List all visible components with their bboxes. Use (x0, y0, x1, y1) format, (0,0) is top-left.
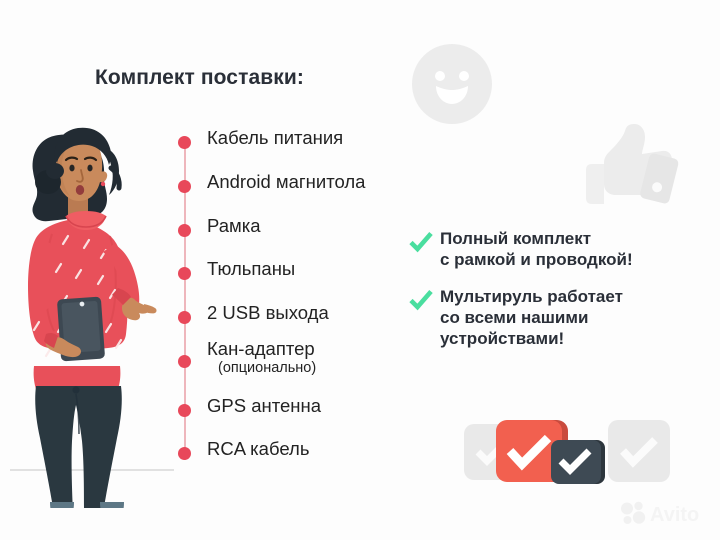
list-item-label: Android магнитола (207, 172, 365, 192)
benefit-item: Мультируль работает со всеми нашими устр… (408, 286, 698, 349)
bullet-icon (178, 355, 191, 368)
benefit-label: Мультируль работает со всеми нашими устр… (440, 286, 623, 349)
avito-logo-icon: Avito (620, 500, 712, 526)
benefit-label: Полный комплект с рамкой и проводкой! (440, 228, 633, 270)
bullet-icon (178, 311, 191, 324)
avito-wordmark: Avito (650, 504, 699, 526)
check-icon (408, 287, 434, 313)
check-icon (408, 229, 434, 255)
page-title: Комплект поставки: (95, 66, 304, 90)
list-item-label: 2 USB выхода (207, 303, 329, 323)
list-item-label: Рамка (207, 216, 261, 236)
bullet-icon (178, 224, 191, 237)
bullet-icon (178, 447, 191, 460)
thumbs-up-icon (580, 116, 686, 222)
bullet-icon (178, 404, 191, 417)
bullet-icon (178, 267, 191, 280)
list-item-label: RCA кабель (207, 439, 309, 459)
bullet-icon (178, 180, 191, 193)
bullet-icon (178, 136, 191, 149)
list-item-label: Кабель питания (207, 128, 343, 148)
smiley-face-icon (404, 36, 500, 132)
benefits-list: Полный комплект с рамкой и проводкой! Му… (408, 228, 698, 350)
list-item-label: GPS антенна (207, 396, 321, 416)
list-item-label-main: Кан-адаптер (207, 338, 315, 359)
person-illustration (6, 108, 178, 508)
benefit-item: Полный комплект с рамкой и проводкой! (408, 228, 698, 270)
list-item-label: Тюльпаны (207, 259, 295, 279)
list-item-label: Кан-адаптер (опционально) (207, 339, 316, 377)
promo-canvas: Комплект поставки: Кабель питания Androi… (0, 0, 720, 540)
checkbox-cluster-icon (462, 414, 672, 496)
list-item-sublabel: (опционально) (218, 361, 316, 377)
